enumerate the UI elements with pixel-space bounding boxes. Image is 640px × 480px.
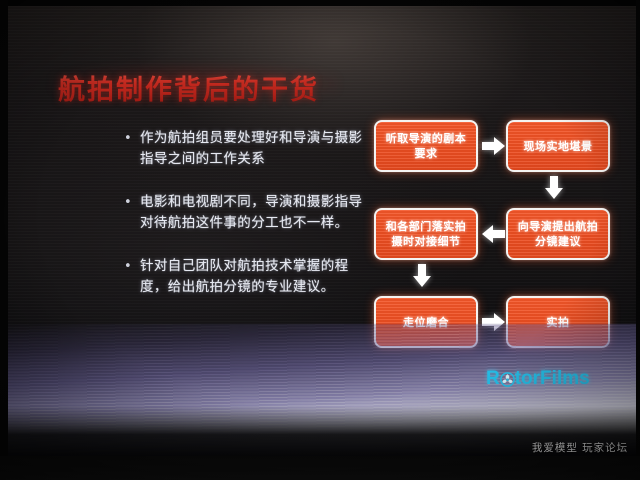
watermark-line-1: 我爱模型 玩家论坛 [528,440,632,455]
flow-box-label: 听取导演的剧本要求 [382,131,470,161]
page-title: 航拍制作背后的干货 [58,68,319,107]
bullet-text: 电影和电视剧不同，导演和摄影指导对待航拍这件事的分工也不一样。 [140,192,372,234]
arrow-down-icon [544,176,564,204]
photo-edge-bottom [0,456,640,480]
flow-box-label: 现场实地堪景 [524,139,593,154]
workflow-diagram: 听取导演的剧本要求 现场实地堪景 和各部门落实拍摄时对接细节 向导演提出航拍分镜… [374,120,610,352]
flow-box-step1: 听取导演的剧本要求 [374,120,478,172]
bullet-marker-icon: • [124,192,140,234]
flow-box-step3: 和各部门落实拍摄时对接细节 [374,208,478,260]
photo-of-presentation-screen: 航拍制作背后的干货 • 作为航拍组员要处理好和导演与摄影指导之间的工作关系 • … [0,0,640,480]
logo-text-after: torFilms [515,368,590,390]
flow-box-step4: 向导演提出航拍分镜建议 [506,208,610,260]
flow-box-label: 向导演提出航拍分镜建议 [514,219,602,249]
bullet-marker-icon: • [124,256,140,298]
bullet-text: 作为航拍组员要处理好和导演与摄影指导之间的工作关系 [140,128,372,170]
photo-edge-left [0,0,8,480]
list-item: • 作为航拍组员要处理好和导演与摄影指导之间的工作关系 [124,128,372,170]
bullet-marker-icon: • [124,128,140,170]
arrow-left-icon [482,224,506,248]
logo-text-before: R [486,368,500,390]
rotorfilms-logo: R torFilms [486,368,590,390]
arrow-down-icon [412,264,432,292]
projection-screen: 航拍制作背后的干货 • 作为航拍组员要处理好和导演与摄影指导之间的工作关系 • … [6,6,638,458]
bullet-list: • 作为航拍组员要处理好和导演与摄影指导之间的工作关系 • 电影和电视剧不同，导… [124,128,372,320]
photo-edge-right [636,0,640,480]
rotor-propeller-icon [500,372,515,387]
flow-box-label: 和各部门落实拍摄时对接细节 [382,219,470,249]
flow-box-step2: 现场实地堪景 [506,120,610,172]
list-item: • 电影和电视剧不同，导演和摄影指导对待航拍这件事的分工也不一样。 [124,192,372,234]
bullet-text: 针对自己团队对航拍技术掌握的程度，给出航拍分镜的专业建议。 [140,256,372,298]
photo-edge-top [0,0,640,6]
arrow-right-icon [482,136,506,160]
list-item: • 针对自己团队对航拍技术掌握的程度，给出航拍分镜的专业建议。 [124,256,372,298]
